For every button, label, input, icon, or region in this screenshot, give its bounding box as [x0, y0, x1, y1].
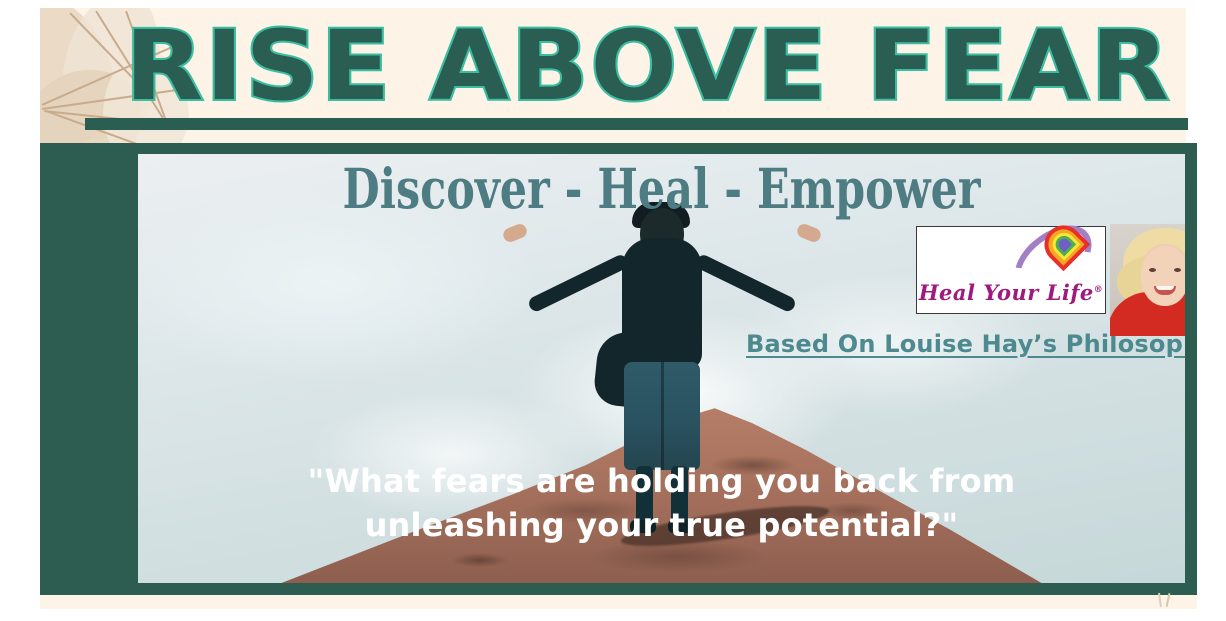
- registered-mark-icon: ®: [1094, 285, 1104, 295]
- logo-wordmark-text: Heal Your Life: [919, 280, 1094, 305]
- sprig-icon: [1166, 593, 1171, 607]
- rainbow-heart-icon: [1007, 231, 1093, 277]
- logo-wordmark: Heal Your Life®: [917, 278, 1105, 305]
- quote-block: "What fears are holding you back from un…: [138, 459, 1185, 547]
- subtitle: Discover - Heal - Empower: [253, 158, 1070, 220]
- title-underline-rule: [85, 118, 1188, 130]
- page-title: RISE ABOVE FEAR: [86, 14, 1186, 118]
- poster-title-wrap: RISE ABOVE FEAR: [118, 14, 1178, 126]
- avatar: [1110, 224, 1185, 336]
- quote-line-1: "What fears are holding you back from: [138, 459, 1185, 503]
- footer-strip: [40, 595, 1197, 609]
- content-panel: Discover - Heal - Empower Heal Your Life…: [138, 154, 1185, 583]
- content-frame: Discover - Heal - Empower Heal Your Life…: [40, 143, 1197, 595]
- heal-your-life-logo: Heal Your Life®: [916, 226, 1106, 314]
- poster-canvas: RISE ABOVE FEAR: [0, 0, 1226, 621]
- sprig-icon-2: [1158, 593, 1162, 607]
- quote-line-2: unleashing your true potential?": [138, 503, 1185, 547]
